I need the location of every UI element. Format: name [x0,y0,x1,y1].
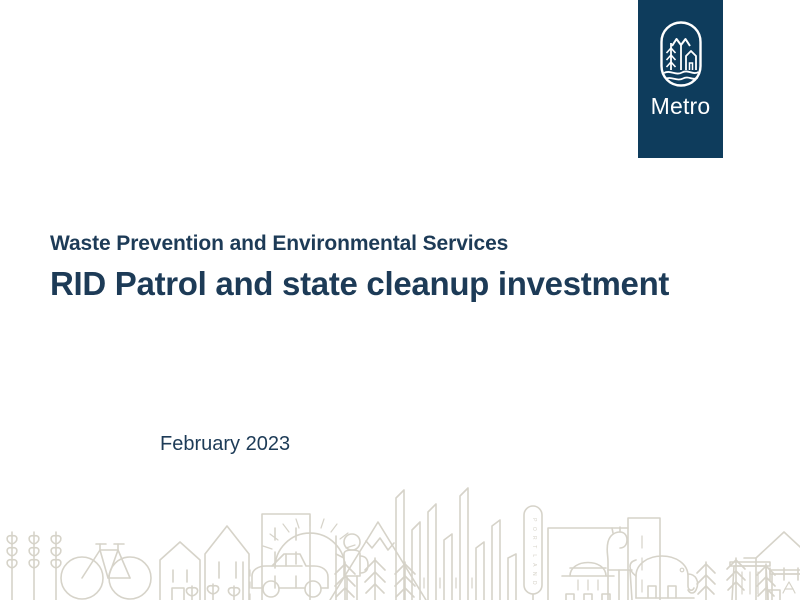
car-icon [252,554,328,597]
skyscrapers-icon [396,488,516,600]
svg-text:N: N [531,572,537,576]
metro-oval-mountain-river-icon [657,20,705,88]
svg-text:D: D [531,581,537,585]
wheat-stalks-icon [7,532,61,600]
hiker-person-icon [336,534,368,600]
svg-text:P: P [531,518,537,522]
metro-logo-block: Metro [638,0,723,158]
svg-text:O: O [531,527,537,531]
svg-text:A: A [531,563,537,567]
shrub-icon [186,584,239,600]
title-slide: Metro Waste Prevention and Environmental… [0,0,800,600]
svg-text:L: L [531,554,537,557]
portland-sign-icon: P O R T L A N D [524,506,542,600]
house-icon [160,542,200,600]
portland-skyline-band: P O R T L A N D [0,470,800,600]
metro-wordmark: Metro [651,95,711,118]
title-group: Waste Prevention and Environmental Servi… [50,232,750,303]
bicycle-icon [61,544,151,599]
page-title: RID Patrol and state cleanup investment [50,264,750,304]
svg-text:R: R [531,536,537,540]
domed-building-icon [548,518,660,600]
elephant-icon [630,556,698,598]
evergreen-trees-right-icon [697,558,775,600]
svg-text:T: T [531,545,537,548]
presentation-date: February 2023 [160,432,290,456]
department-eyebrow: Waste Prevention and Environmental Servi… [50,232,750,257]
